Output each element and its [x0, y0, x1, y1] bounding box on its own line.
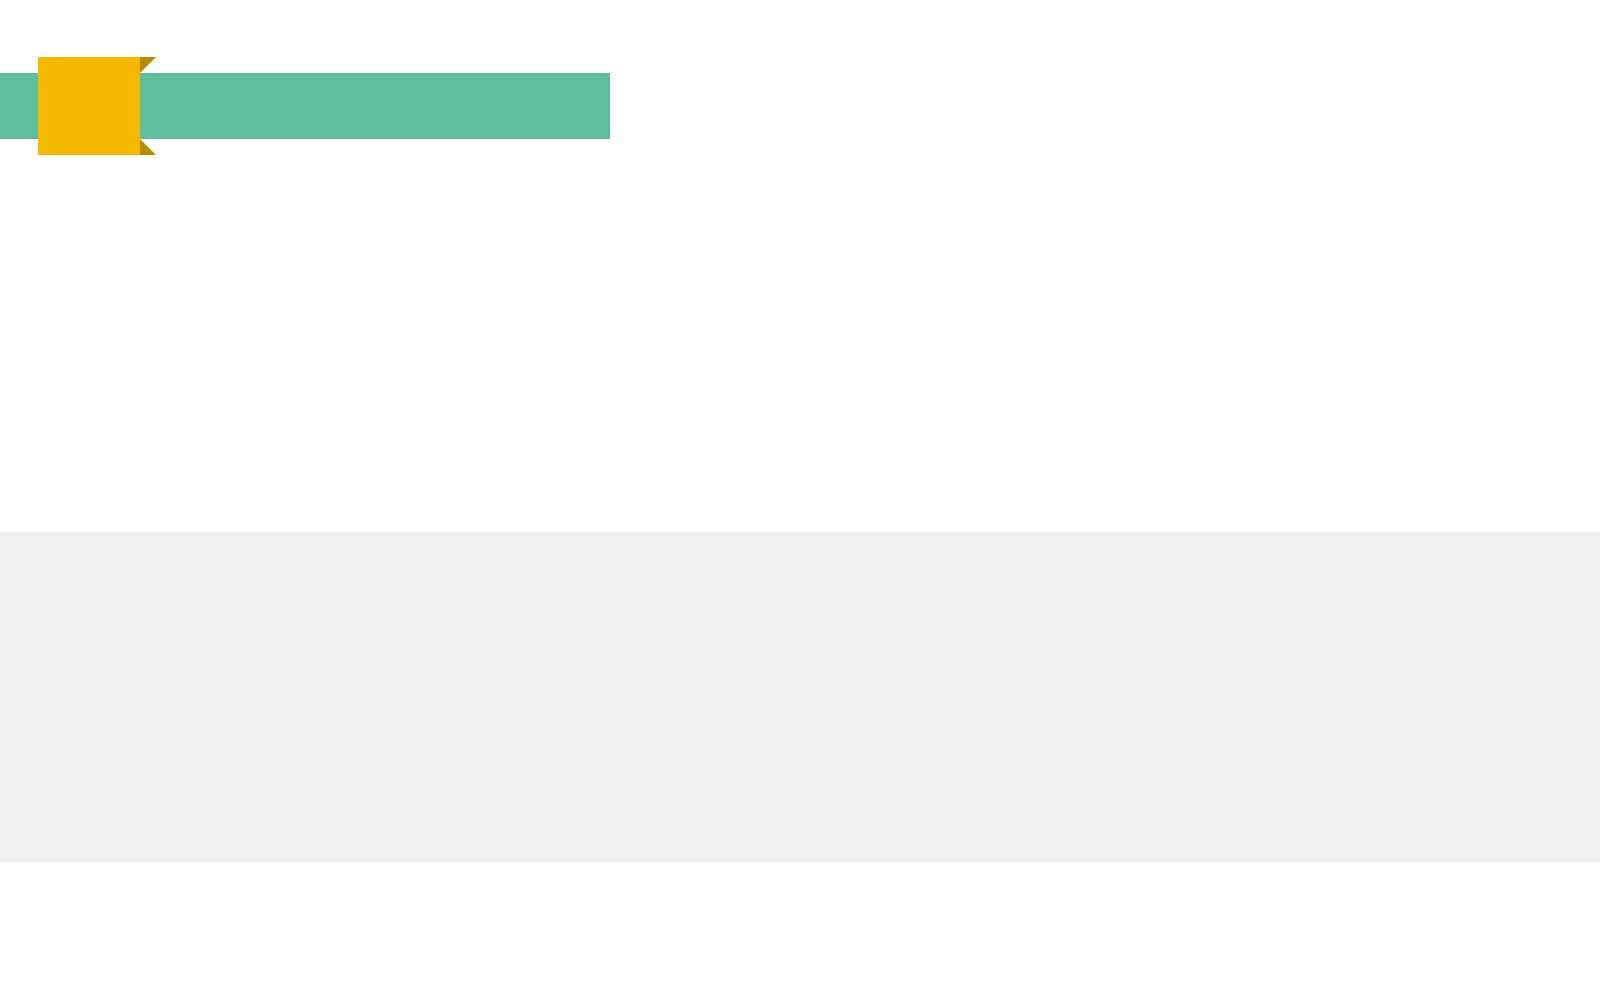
number-box-fold-top-icon [140, 57, 156, 73]
section-number-badge [38, 57, 140, 155]
photo-strip [0, 244, 1600, 508]
slide-header [0, 0, 1600, 200]
number-box-fold-bottom-icon [140, 139, 156, 155]
timeline-columns [0, 532, 1600, 892]
color-bar-strip [0, 508, 1600, 532]
section-number-label [38, 57, 140, 155]
